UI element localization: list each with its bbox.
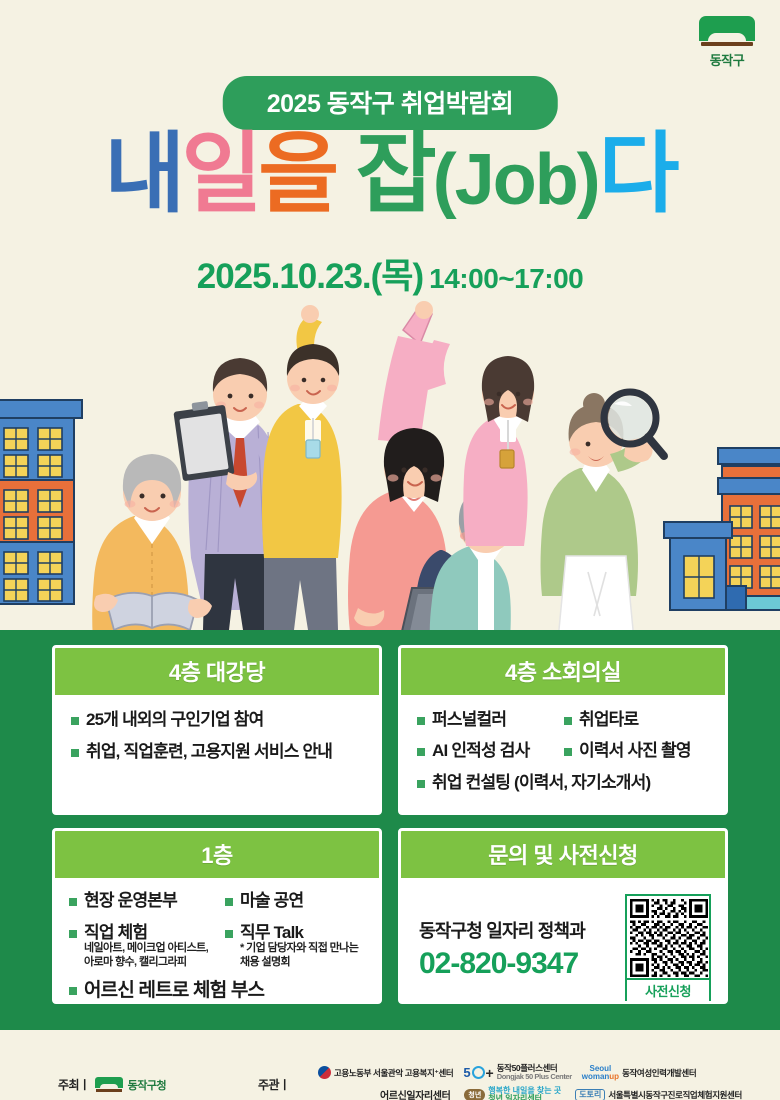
- card-hall: 4층 대강당 25개 내외의 구인기업 참여 취업, 직업훈련, 고용지원 서비…: [52, 645, 382, 815]
- left-tower-building: [0, 400, 82, 604]
- qr-label: 사전신청: [625, 980, 711, 1004]
- card-hall-title: 4층 대강당: [55, 648, 379, 695]
- dotori-icon: 도토리: [575, 1089, 605, 1100]
- bullet-square-icon: [225, 898, 233, 906]
- organizer-logos: 고용노동부 서울관악 고용복지⁺센터 5+ 동작50플러스센터 Dongjak …: [318, 1064, 770, 1100]
- card-contact-title: 문의 및 사전신청: [401, 831, 725, 878]
- event-date: 2025.10.23.(목): [197, 257, 423, 296]
- floor1-item-e: 어르신 레트로 체험 부스: [84, 979, 264, 1003]
- seoul-woman-up-icon: Seoulwomanup: [582, 1065, 619, 1081]
- card-hall-body: 25개 내외의 구인기업 참여 취업, 직업훈련, 고용지원 서비스 안내: [55, 695, 379, 773]
- host-block: 주최ㅣ 동작구청: [58, 1076, 166, 1093]
- job-fair-people-illustration: [0, 300, 780, 640]
- bullet-square-icon: [69, 898, 77, 906]
- event-banner: 2025 동작구 취업박람회: [223, 76, 558, 130]
- card-meeting-room: 4층 소회의실 퍼스널컬러 취업타로 AI 인적성 검사 이력서 사진 촬영 취…: [398, 645, 728, 815]
- dongjak-gu-logo: 동작구: [696, 16, 758, 69]
- contact-phone[interactable]: 02-820-9347: [419, 947, 585, 981]
- bullet-square-icon: [417, 717, 425, 725]
- card-meeting-body: 퍼스널컬러 취업타로 AI 인적성 검사 이력서 사진 촬영 취업 컨설팅 (이…: [401, 695, 725, 813]
- floor1-item-c-note: 네일아트, 메이크업 아티스트, 아로마 향수, 캘리그라피: [84, 941, 225, 970]
- logo-row-1: 고용노동부 서울관악 고용복지⁺센터 5+ 동작50플러스센터 Dongjak …: [318, 1064, 770, 1082]
- bullet-square-icon: [69, 987, 77, 995]
- list-item: 취업 컨설팅 (이력서, 자기소개서): [417, 772, 711, 793]
- floor1-item-b: 마술 공연: [240, 890, 303, 911]
- floor1-item-a: 현장 운영본부: [84, 890, 177, 911]
- taegeuk-icon: [318, 1066, 331, 1079]
- card-floor1-title: 1층: [55, 831, 379, 878]
- logo-row-2: 어르신일자리센터 청년 행복한 내일을 찾는 곳 청년 일자리센터 도토리 서울…: [318, 1087, 770, 1100]
- bullet-square-icon: [225, 930, 233, 938]
- card-hall-item-0: 25개 내외의 구인기업 참여: [86, 709, 263, 730]
- headline-seg-2: 일: [181, 124, 258, 223]
- logo-senior-job-center: 어르신일자리센터: [380, 1087, 450, 1100]
- headline-seg-4: 잡: [356, 124, 433, 223]
- fifty-plus-icon: 5+: [463, 1065, 493, 1081]
- list-item: 이력서 사진 촬영: [564, 740, 711, 761]
- card-contact: 문의 및 사전신청 동작구청 일자리 정책과 02-820-9347: [398, 828, 728, 1004]
- bullet-square-icon: [564, 748, 572, 756]
- list-item: 현장 운영본부: [69, 890, 225, 911]
- page-title: 내일을 잡(Job)다: [0, 130, 780, 218]
- organizer-label: 주관ㅣ: [258, 1076, 290, 1093]
- floor1-item-d-note: * 기업 담당자와 직접 만나는 채용 설명회: [240, 941, 369, 970]
- logo-youth-job-center: 청년 행복한 내일을 찾는 곳 청년 일자리센터: [464, 1087, 561, 1100]
- qr-code-icon[interactable]: [625, 894, 711, 980]
- youth-job-center-icon: 행복한 내일을 찾는 곳 청년 일자리센터: [488, 1087, 561, 1100]
- contact-org: 동작구청 일자리 정책과: [419, 917, 585, 943]
- list-item: 어르신 레트로 체험 부스: [69, 979, 369, 1003]
- event-time: 14:00~17:00: [429, 263, 583, 294]
- contact-info: 동작구청 일자리 정책과 02-820-9347: [419, 917, 585, 981]
- logo-dotori: 도토리 서울특별시동작구진로직업체험지원센터: [575, 1089, 742, 1100]
- card-hall-item-1: 취업, 직업훈련, 고용지원 서비스 안내: [86, 741, 332, 762]
- card-contact-body: 동작구청 일자리 정책과 02-820-9347: [401, 878, 725, 1004]
- bullet-square-icon: [71, 749, 79, 757]
- list-item: AI 인적성 검사: [417, 740, 564, 761]
- host-name: 동작구청: [128, 1077, 166, 1093]
- bullet-square-icon: [71, 717, 79, 725]
- list-item: 취업, 직업훈련, 고용지원 서비스 안내: [71, 741, 365, 762]
- dongjak-gu-mini-emblem-icon: [95, 1077, 123, 1092]
- card-meeting-item-0: 퍼스널컬러: [432, 709, 506, 730]
- host-label: 주최ㅣ: [58, 1076, 90, 1093]
- list-item: 25개 내외의 구인기업 참여: [71, 709, 365, 730]
- bullet-square-icon: [69, 930, 77, 938]
- card-meeting-item-3: 이력서 사진 촬영: [579, 740, 691, 761]
- bullet-square-icon: [417, 748, 425, 756]
- dongjak-gu-logo-label: 동작구: [696, 50, 758, 69]
- card-meeting-title: 4층 소회의실: [401, 648, 725, 695]
- event-date-line: 2025.10.23.(목)14:00~17:00: [0, 248, 780, 299]
- youth-chip-icon: 청년: [464, 1089, 485, 1100]
- logo-moel: 고용노동부 서울관악 고용복지⁺센터: [318, 1066, 453, 1079]
- card-floor1-body: 현장 운영본부 직업 체험 네일아트, 메이크업 아티스트, 아로마 향수, 캘…: [55, 878, 379, 1004]
- card-meeting-item-1: 취업타로: [579, 709, 638, 730]
- headline-seg-3: 을: [258, 124, 335, 223]
- bullet-square-icon: [564, 717, 572, 725]
- headline-seg-6: 다: [599, 124, 676, 223]
- card-meeting-item-4: 취업 컨설팅 (이력서, 자기소개서): [432, 772, 650, 793]
- headline-seg-5: (Job): [433, 140, 599, 220]
- dongjak-gu-emblem-icon: [699, 16, 755, 48]
- list-item: 마술 공연: [225, 890, 369, 911]
- logo-50plus: 5+ 동작50플러스센터 Dongjak 50 Plus Center: [463, 1064, 571, 1082]
- card-meeting-item-2: AI 인적성 검사: [432, 740, 529, 761]
- qr-registration[interactable]: 사전신청: [625, 894, 711, 1004]
- logo-woman-up: Seoulwomanup 동작여성인력개발센터: [582, 1065, 697, 1081]
- list-item: 취업타로: [564, 709, 711, 730]
- headline-seg-1: 내: [104, 124, 181, 223]
- bullet-square-icon: [417, 780, 425, 788]
- list-item: 퍼스널컬러: [417, 709, 564, 730]
- card-floor1: 1층 현장 운영본부 직업 체험 네일아트, 메이크업 아티스트, 아로마 향수…: [52, 828, 382, 1004]
- poster-root: 동작구 2025 동작구 취업박람회 내일을 잡(Job)다 2025.10.2…: [0, 0, 780, 1100]
